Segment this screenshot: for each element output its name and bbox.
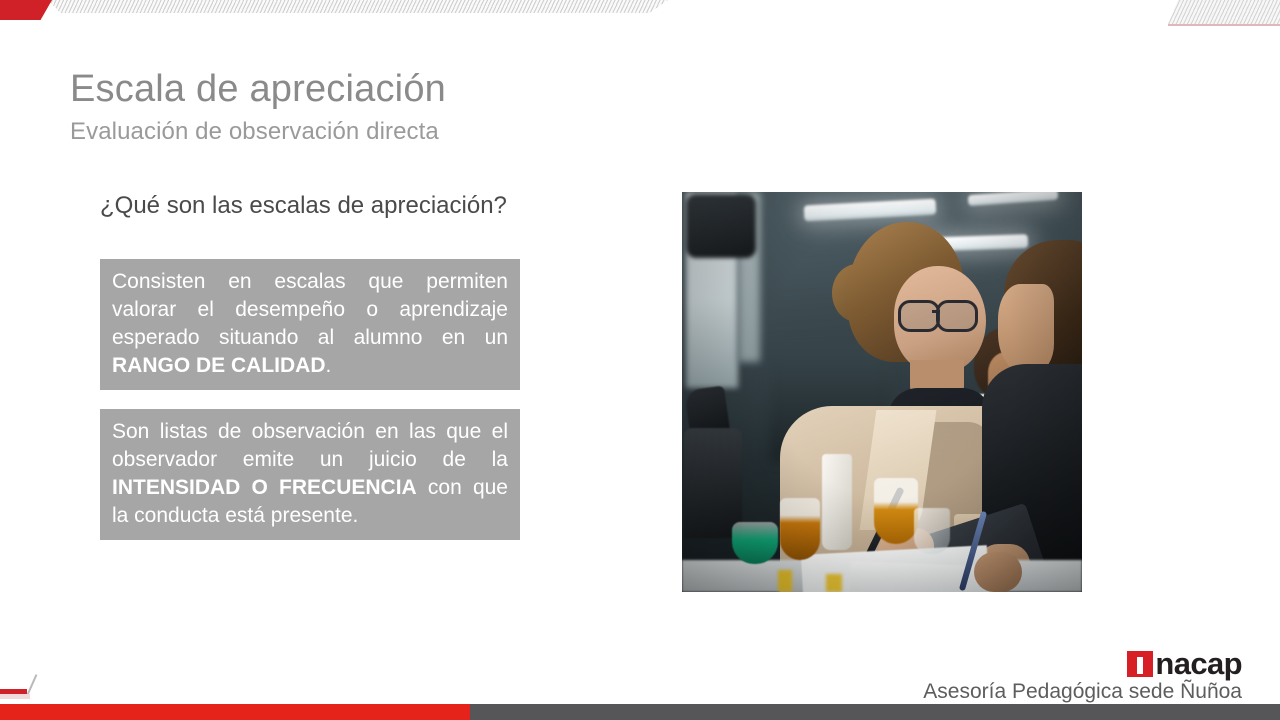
inacap-logo-mark-icon xyxy=(1127,651,1153,677)
top-left-red-tab-decoration xyxy=(0,0,52,20)
definition-emphasis: RANGO DE CALIDAD xyxy=(112,354,326,377)
bottom-left-pink-accent-decoration xyxy=(0,694,30,699)
slide-subtitle: Evaluación de observación directa xyxy=(70,118,439,146)
definition-emphasis: INTENSIDAD O FRECUENCIA xyxy=(112,476,417,499)
definition-text-tail: . xyxy=(326,354,332,377)
laboratory-classroom-photo xyxy=(682,192,1082,592)
inacap-logo-wordmark: nacap xyxy=(1155,648,1242,679)
footer-caption: Asesoría Pedagógica sede Ñuñoa xyxy=(923,680,1242,704)
photo-illustration xyxy=(682,192,1082,592)
presentation-slide: Escala de apreciación Evaluación de obse… xyxy=(0,0,1280,720)
definition-text-lead: Son listas de observación en las que el … xyxy=(112,420,508,471)
bottom-gray-bar xyxy=(470,704,1280,720)
definition-box-rango-de-calidad: Consisten en escalas que permiten valora… xyxy=(100,259,520,390)
slide-title: Escala de apreciación xyxy=(70,68,446,111)
inacap-logo: nacap xyxy=(1127,648,1242,679)
photo-vignette xyxy=(682,192,1082,592)
definition-text-lead: Consisten en escalas que permiten valora… xyxy=(112,270,508,349)
section-question: ¿Qué son las escalas de apreciación? xyxy=(100,192,507,220)
bottom-red-bar xyxy=(0,704,470,720)
definition-box-intensidad-o-frecuencia: Son listas de observación en las que el … xyxy=(100,409,520,540)
top-right-striped-band-decoration xyxy=(1168,0,1280,24)
top-striped-band-decoration xyxy=(48,0,668,13)
top-right-pink-underline-decoration xyxy=(1168,24,1280,26)
